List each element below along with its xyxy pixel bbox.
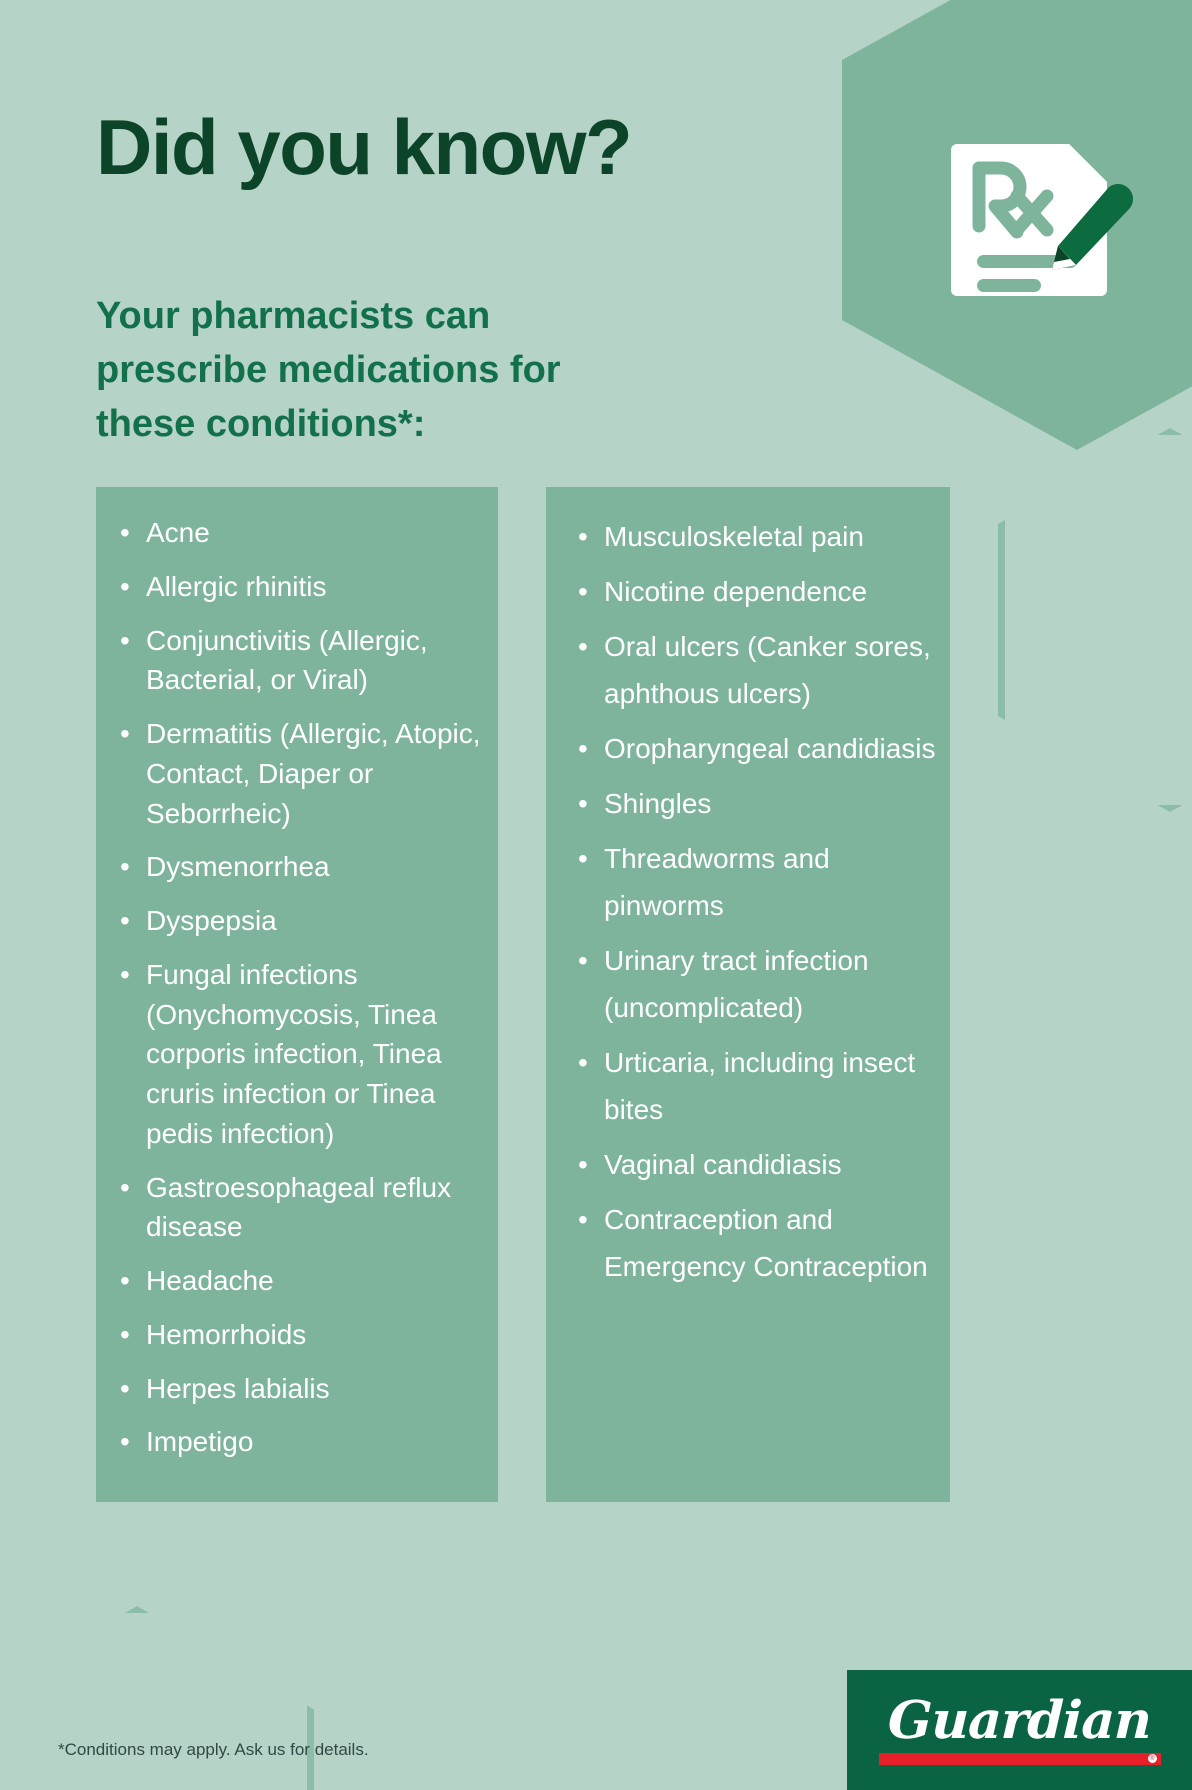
list-item: Nicotine dependence: [572, 568, 940, 615]
footnote: *Conditions may apply. Ask us for detail…: [58, 1740, 369, 1760]
list-item: Dyspepsia: [114, 901, 484, 941]
list-item: Urticaria, including insect bites: [572, 1039, 940, 1133]
list-item: Acne: [114, 513, 484, 553]
list-item: Shingles: [572, 780, 940, 827]
conditions-panel-left: Acne Allergic rhinitis Conjunctivitis (A…: [96, 487, 498, 1502]
list-item: Hemorrhoids: [114, 1315, 484, 1355]
conditions-list-right: Musculoskeletal pain Nicotine dependence…: [572, 513, 940, 1290]
list-item: Musculoskeletal pain: [572, 513, 940, 560]
list-item: Oral ulcers (Canker sores, aphthous ulce…: [572, 623, 940, 717]
list-item: Allergic rhinitis: [114, 567, 484, 607]
list-item: Dermatitis (Allergic, Atopic, Contact, D…: [114, 714, 484, 833]
conditions-columns: Acne Allergic rhinitis Conjunctivitis (A…: [96, 487, 950, 1502]
subtitle: Your pharmacists can prescribe medicatio…: [96, 290, 656, 452]
page-title: Did you know?: [96, 108, 631, 188]
guardian-wordmark: Guardian: [887, 1695, 1152, 1747]
guardian-logo: Guardian ®: [847, 1670, 1192, 1790]
prescription-document-pen-icon: [927, 92, 1137, 307]
list-item: Threadworms and pinworms: [572, 835, 940, 929]
list-item: Gastroesophageal reflux disease: [114, 1168, 484, 1248]
list-item: Urinary tract infection (uncomplicated): [572, 937, 940, 1031]
list-item: Contraception and Emergency Contraceptio…: [572, 1196, 940, 1290]
list-item: Herpes labialis: [114, 1369, 484, 1409]
list-item: Oropharyngeal candidiasis: [572, 725, 940, 772]
list-item: Dysmenorrhea: [114, 847, 484, 887]
list-item: Fungal infections (Onychomycosis, Tinea …: [114, 955, 484, 1154]
registered-trademark-icon: ®: [1148, 1754, 1157, 1763]
logo-red-rule: ®: [879, 1753, 1161, 1765]
list-item: Impetigo: [114, 1422, 484, 1462]
list-item: Conjunctivitis (Allergic, Bacterial, or …: [114, 621, 484, 701]
list-item: Vaginal candidiasis: [572, 1141, 940, 1188]
hexagon-outline-bottom-left: [0, 1606, 314, 1790]
conditions-panel-right: Musculoskeletal pain Nicotine dependence…: [546, 487, 950, 1502]
conditions-list-left: Acne Allergic rhinitis Conjunctivitis (A…: [114, 513, 484, 1462]
list-item: Headache: [114, 1261, 484, 1301]
hexagon-outline-right: [998, 428, 1192, 812]
